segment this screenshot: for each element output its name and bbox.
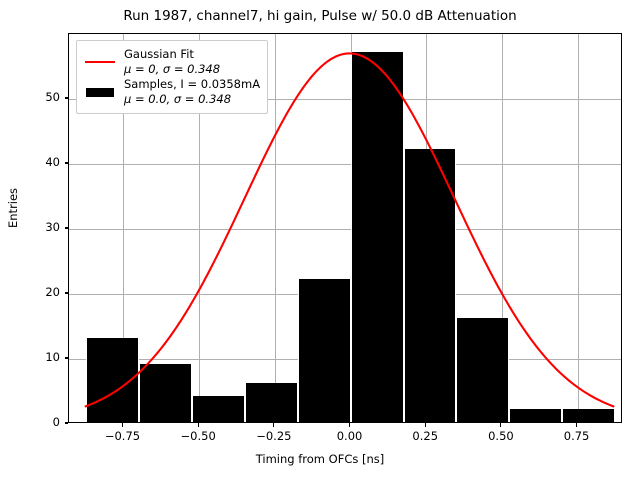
legend-item-samples: Samples, I = 0.0358mA μ = 0.0, σ = 0.348	[83, 77, 260, 106]
x-axis-tick	[576, 423, 577, 427]
y-axis-tick	[65, 97, 69, 98]
legend-label-line1: Samples, I = 0.0358mA	[124, 77, 260, 91]
legend-item-gaussian-fit: Gaussian Fit μ = 0, σ = 0.348	[83, 47, 260, 76]
x-axis-tick-label: 0.75	[547, 429, 607, 443]
y-axis-tick-label: 10	[0, 350, 60, 364]
x-axis-label: Timing from OFCs [ns]	[0, 452, 640, 466]
legend-label-line2: μ = 0, σ = 0.348	[124, 62, 220, 77]
legend-label-line1: Gaussian Fit	[124, 47, 194, 61]
y-axis-tick	[65, 357, 69, 358]
figure: Run 1987, channel7, hi gain, Pulse w/ 50…	[0, 0, 640, 480]
x-axis-tick	[198, 423, 199, 427]
x-axis-tick	[273, 423, 274, 427]
y-axis-tick-label: 30	[0, 220, 60, 234]
x-axis-tick	[500, 423, 501, 427]
legend[interactable]: Gaussian Fit μ = 0, σ = 0.348 Samples, I…	[76, 40, 268, 114]
legend-patch-swatch-icon	[83, 82, 117, 102]
legend-label-line2: μ = 0.0, σ = 0.348	[124, 92, 260, 107]
legend-label-samples: Samples, I = 0.0358mA μ = 0.0, σ = 0.348	[124, 77, 260, 106]
legend-line-swatch-icon	[83, 52, 117, 72]
legend-label-gaussian-fit: Gaussian Fit μ = 0, σ = 0.348	[124, 47, 220, 76]
x-axis-tick-label: −0.50	[168, 429, 228, 443]
y-axis-tick-label: 0	[0, 415, 60, 429]
y-axis-tick	[65, 227, 69, 228]
x-axis-tick	[425, 423, 426, 427]
y-axis-tick	[65, 162, 69, 163]
y-axis-tick-label: 50	[0, 90, 60, 104]
x-axis-tick	[349, 423, 350, 427]
x-axis-tick-label: 0.25	[395, 429, 455, 443]
x-axis-tick	[122, 423, 123, 427]
y-axis-tick-label: 40	[0, 155, 60, 169]
x-axis-tick-label: 0.50	[471, 429, 531, 443]
x-axis-tick-label: 0.00	[320, 429, 380, 443]
y-axis-tick	[65, 422, 69, 423]
x-axis-tick-label: −0.75	[92, 429, 152, 443]
x-axis-tick-label: −0.25	[244, 429, 304, 443]
y-axis-tick	[65, 292, 69, 293]
chart-title: Run 1987, channel7, hi gain, Pulse w/ 50…	[0, 8, 640, 24]
y-axis-tick-label: 20	[0, 285, 60, 299]
